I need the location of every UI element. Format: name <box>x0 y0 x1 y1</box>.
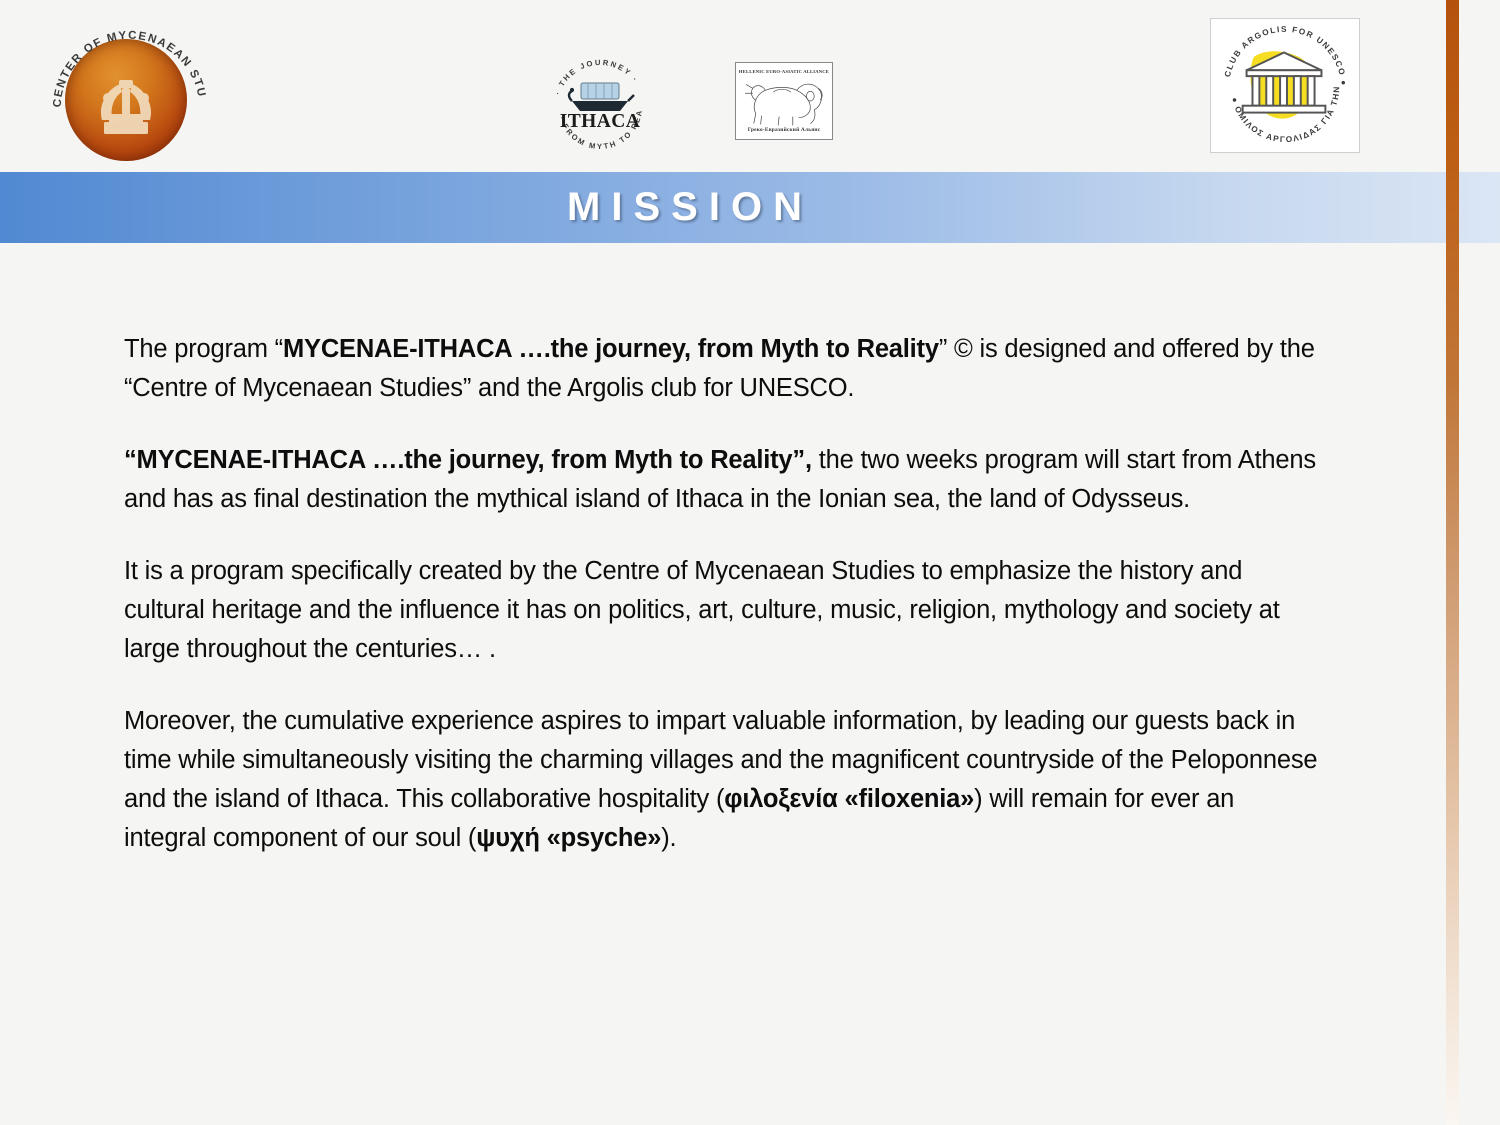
paragraph-4: Moreover, the cumulative experience aspi… <box>124 702 1319 858</box>
logo-center-of-mycenaean-studies: CENTER OF MYCENAEAN STUDIES <box>45 22 215 162</box>
right-accent-bar <box>1446 0 1459 1125</box>
paragraph-2: “MYCENAE-ITHACA ….the journey, from Myth… <box>124 441 1319 519</box>
ancient-ship-icon <box>569 83 634 111</box>
logo-hellenic-euro-asiatic-alliance: HELLENIC EURO-ASIATIC ALLIANCE Греко-Евр… <box>735 62 833 140</box>
heaa-caption-top: HELLENIC EURO-ASIATIC ALLIANCE <box>736 69 832 74</box>
mycenaean-seal-ring-text: CENTER OF MYCENAEAN STUDIES <box>45 22 215 162</box>
paragraph-1: The program “MYCENAE-ITHACA ….the journe… <box>124 330 1319 408</box>
presentation-slide: CENTER OF MYCENAEAN STUDIES <box>0 0 1500 1125</box>
slide-body: The program “MYCENAE-ITHACA ….the journe… <box>124 330 1319 858</box>
logo-ithaca: · THE JOURNEY · · FROM MYTH TO REALITY · <box>548 55 652 153</box>
svg-text:ITHACA: ITHACA <box>560 111 640 132</box>
lion-gate-relief <box>101 80 151 134</box>
paragraph-3: It is a program specifically created by … <box>124 552 1319 669</box>
heaa-caption-bottom: Греко-Евразийский Альянс <box>736 127 832 133</box>
section-title-bar: MISSION <box>0 172 1500 243</box>
logo-strip: CENTER OF MYCENAEAN STUDIES <box>0 0 1500 172</box>
page-title: MISSION <box>557 185 813 230</box>
unesco-argolis-emblem: CLUB ARGOLIS FOR UNESCO ● ● ΟΜΙΛΟΣ ΑΡΓΟΛ… <box>1211 19 1359 152</box>
logo-club-argolis-for-unesco: CLUB ARGOLIS FOR UNESCO ● ● ΟΜΙΛΟΣ ΑΡΓΟΛ… <box>1210 18 1360 153</box>
ithaca-emblem: · THE JOURNEY · · FROM MYTH TO REALITY · <box>548 55 652 153</box>
